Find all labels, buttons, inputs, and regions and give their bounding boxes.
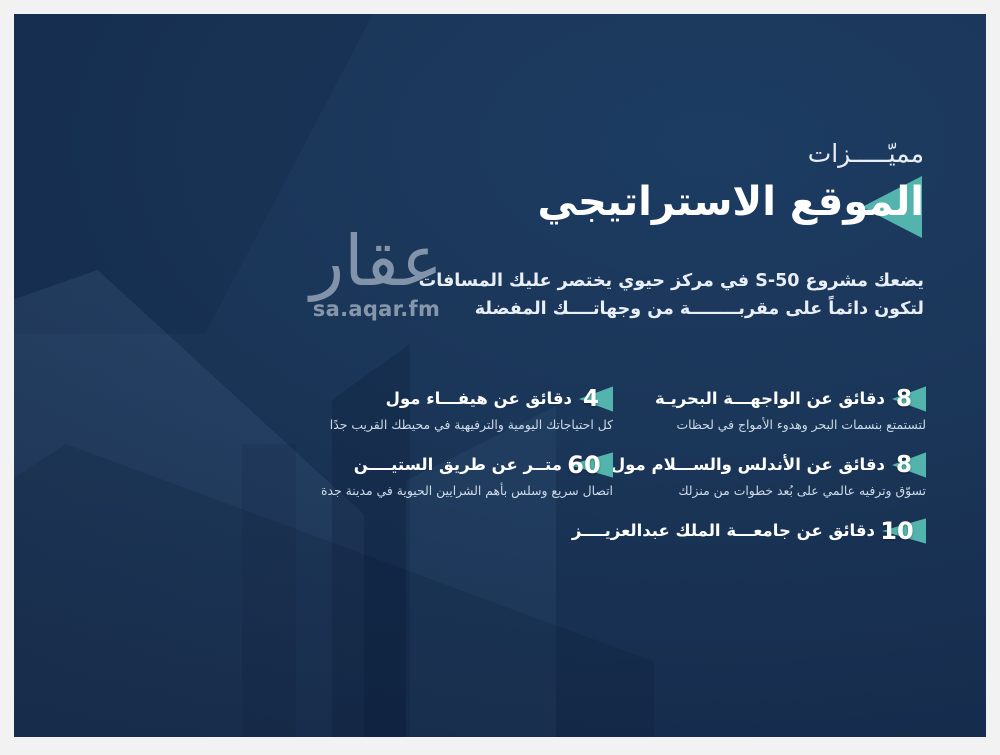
feature-heading: 60 متــر عن طريق الستيــــن [321,450,613,480]
feature-title: متــر عن طريق الستيــــن [354,455,562,476]
feature-description: اتصال سريع وسلس بأهم الشرايين الحيوية في… [321,483,613,500]
eyebrow-text: مميّـــــزات [364,139,924,169]
number-badge-icon: 8 [892,384,926,414]
feature-number: 4 [583,388,599,411]
header-block: مميّـــــزات الموقع الاستراتيجي يضعك مشر… [364,139,924,324]
feature-number: 60 [567,453,600,477]
number-badge-icon: 8 [892,450,926,480]
features-grid: 8 دقائق عن الواجهـــة البحريـة لتستمتع ب… [321,384,926,568]
background-shape-slim-tower [242,444,296,737]
background-shape-light-pane [14,270,364,737]
subtitle-line-1: يضعك مشروع S-50 في مركز حيوي يختصر عليك … [364,267,924,295]
feature-item: 8 دقائق عن الأندلس والســـلام مول تسوّق … [634,450,926,502]
feature-title: دقائق عن الأندلس والســـلام مول [611,455,885,476]
subtitle-line-2: لتكون دائماً على مقربــــــــة من وجهاتـ… [364,295,924,323]
slide-canvas: عقار sa.aqar.fm مميّـــــزات الموقع الاس… [14,14,986,737]
title-wrapper: الموقع الاستراتيجي [364,171,924,241]
feature-number: 8 [896,388,912,411]
feature-description: كل احتياجاتك اليومية والترفيهية في محيطك… [321,417,613,434]
feature-description: تسوّق وترفيه عالمي على بُعد خطوات من منز… [634,483,926,500]
number-badge-icon: 10 [882,516,926,546]
page-title: الموقع الاستراتيجي [364,171,924,233]
feature-item: 60 متــر عن طريق الستيــــن اتصال سريع و… [321,450,613,502]
feature-item: 8 دقائق عن الواجهـــة البحريـة لتستمتع ب… [634,384,926,436]
feature-title: دقائق عن الواجهـــة البحريـة [655,389,885,410]
number-badge-icon: 4 [579,384,613,414]
feature-heading: 10 دقائق عن جامعـــة الملك عبدالعزيــــز [634,516,926,546]
feature-title: دقائق عن هيفـــاء مول [386,389,572,410]
feature-heading: 4 دقائق عن هيفـــاء مول [321,384,613,414]
feature-heading: 8 دقائق عن الأندلس والســـلام مول [634,450,926,480]
feature-item: 10 دقائق عن جامعـــة الملك عبدالعزيــــز [634,516,926,568]
subtitle-block: يضعك مشروع S-50 في مركز حيوي يختصر عليك … [364,267,924,324]
feature-number: 10 [880,519,913,543]
feature-title: دقائق عن جامعـــة الملك عبدالعزيــــز [572,521,875,542]
feature-number: 8 [896,454,912,477]
number-badge-icon: 60 [569,450,613,480]
feature-heading: 8 دقائق عن الواجهـــة البحريـة [634,384,926,414]
presentation-slide: عقار sa.aqar.fm مميّـــــزات الموقع الاس… [0,0,1000,755]
feature-item: 4 دقائق عن هيفـــاء مول كل احتياجاتك الي… [321,384,613,436]
feature-description: لتستمتع بنسمات البحر وهدوء الأمواج في لح… [634,417,926,434]
